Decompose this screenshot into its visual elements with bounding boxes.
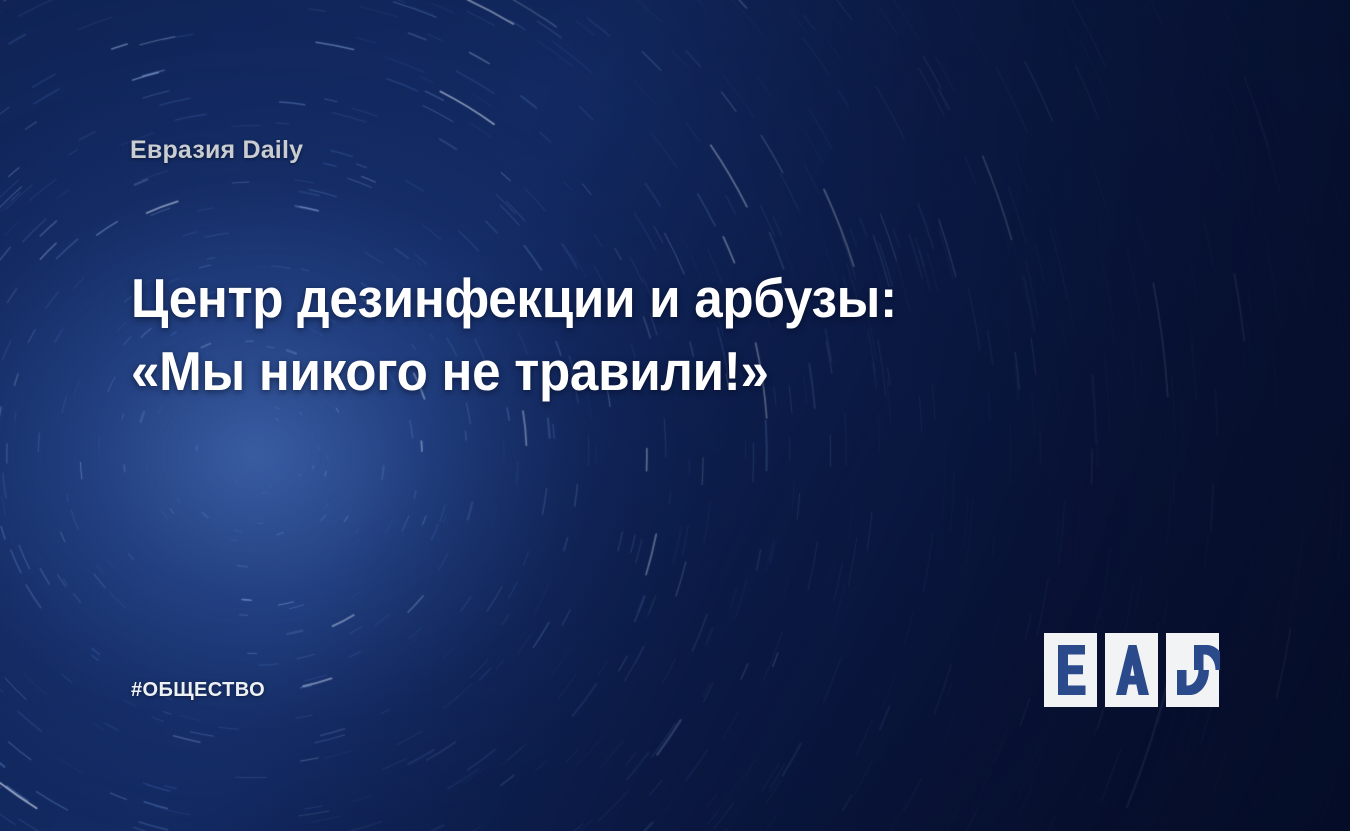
headline: Центр дезинфекции и арбузы: «Мы никого н…: [131, 262, 968, 408]
brand-name: Евразия Daily: [130, 136, 303, 165]
news-share-card: Евразия Daily Центр дезинфекции и арбузы…: [0, 0, 1350, 831]
ead-logo[interactable]: [1044, 633, 1220, 707]
card-content: Евразия Daily Центр дезинфекции и арбузы…: [0, 0, 1350, 831]
logo-letter-e: [1058, 645, 1086, 695]
category-tag[interactable]: #ОБЩЕСТВО: [131, 679, 265, 702]
headline-line-2: «Мы никого не травили!»: [131, 335, 968, 408]
logo-tile-a-background: [1105, 633, 1158, 707]
headline-line-1: Центр дезинфекции и арбузы:: [131, 262, 968, 335]
logo-tile-d-background: [1166, 633, 1219, 707]
